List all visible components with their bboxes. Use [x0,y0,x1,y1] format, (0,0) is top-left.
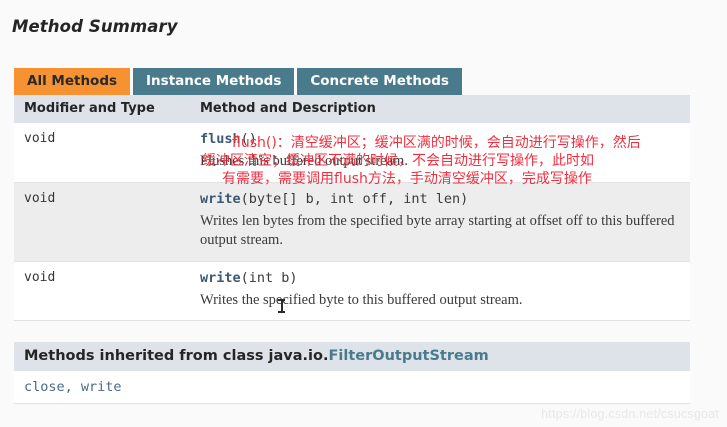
table-row: void write(int b) Writes the specified b… [14,261,690,321]
method-summary-page: Method Summary All Methods Instance Meth… [0,0,727,427]
tab-all-methods[interactable]: All Methods [14,68,130,95]
tab-instance-methods[interactable]: Instance Methods [133,68,294,95]
method-cell: write(int b) Writes the specified byte t… [190,261,690,321]
column-header-modifier-and-type: Modifier and Type [14,95,190,123]
method-link[interactable]: flush [200,131,241,147]
inherited-methods-list[interactable]: close, write [14,371,690,404]
table-row: void write(byte[] b, int off, int len) W… [14,182,690,261]
column-header-method-and-description: Method and Description [190,95,690,123]
method-arguments: () [241,131,257,147]
method-return-type: void [14,123,190,182]
method-signature: write(byte[] b, int off, int len) [200,191,680,207]
table-row: void flush() Flushes this buffered outpu… [14,123,690,182]
method-return-type: void [14,182,190,261]
method-description: Flushes this buffered output stream. [200,152,680,172]
method-summary-table: Modifier and Type Method and Description… [14,95,690,321]
method-signature: write(int b) [200,270,680,286]
method-cell: write(byte[] b, int off, int len) Writes… [190,182,690,261]
method-description: Writes the specified byte to this buffer… [200,291,680,311]
method-link[interactable]: write [200,270,241,286]
method-link[interactable]: write [200,191,241,207]
page-title: Method Summary [12,17,178,36]
method-description: Writes len bytes from the specified byte… [200,212,680,251]
method-cell: flush() Flushes this buffered output str… [190,123,690,182]
table-header-row: Modifier and Type Method and Description [14,95,690,123]
method-return-type: void [14,261,190,321]
method-filter-tabs: All Methods Instance Methods Concrete Me… [14,68,462,95]
tab-concrete-methods[interactable]: Concrete Methods [297,68,462,95]
inherited-class-link[interactable]: FilterOutputStream [328,348,488,364]
inherited-methods-header: Methods inherited from class java.io.Fil… [14,342,690,371]
method-arguments: (int b) [241,270,298,286]
method-arguments: (byte[] b, int off, int len) [241,191,469,207]
watermark-text: https://blog.csdn.net/csucsgoat [541,407,719,421]
inherited-prefix-label: Methods inherited from class java.io. [24,348,328,364]
method-signature: flush() [200,131,680,147]
